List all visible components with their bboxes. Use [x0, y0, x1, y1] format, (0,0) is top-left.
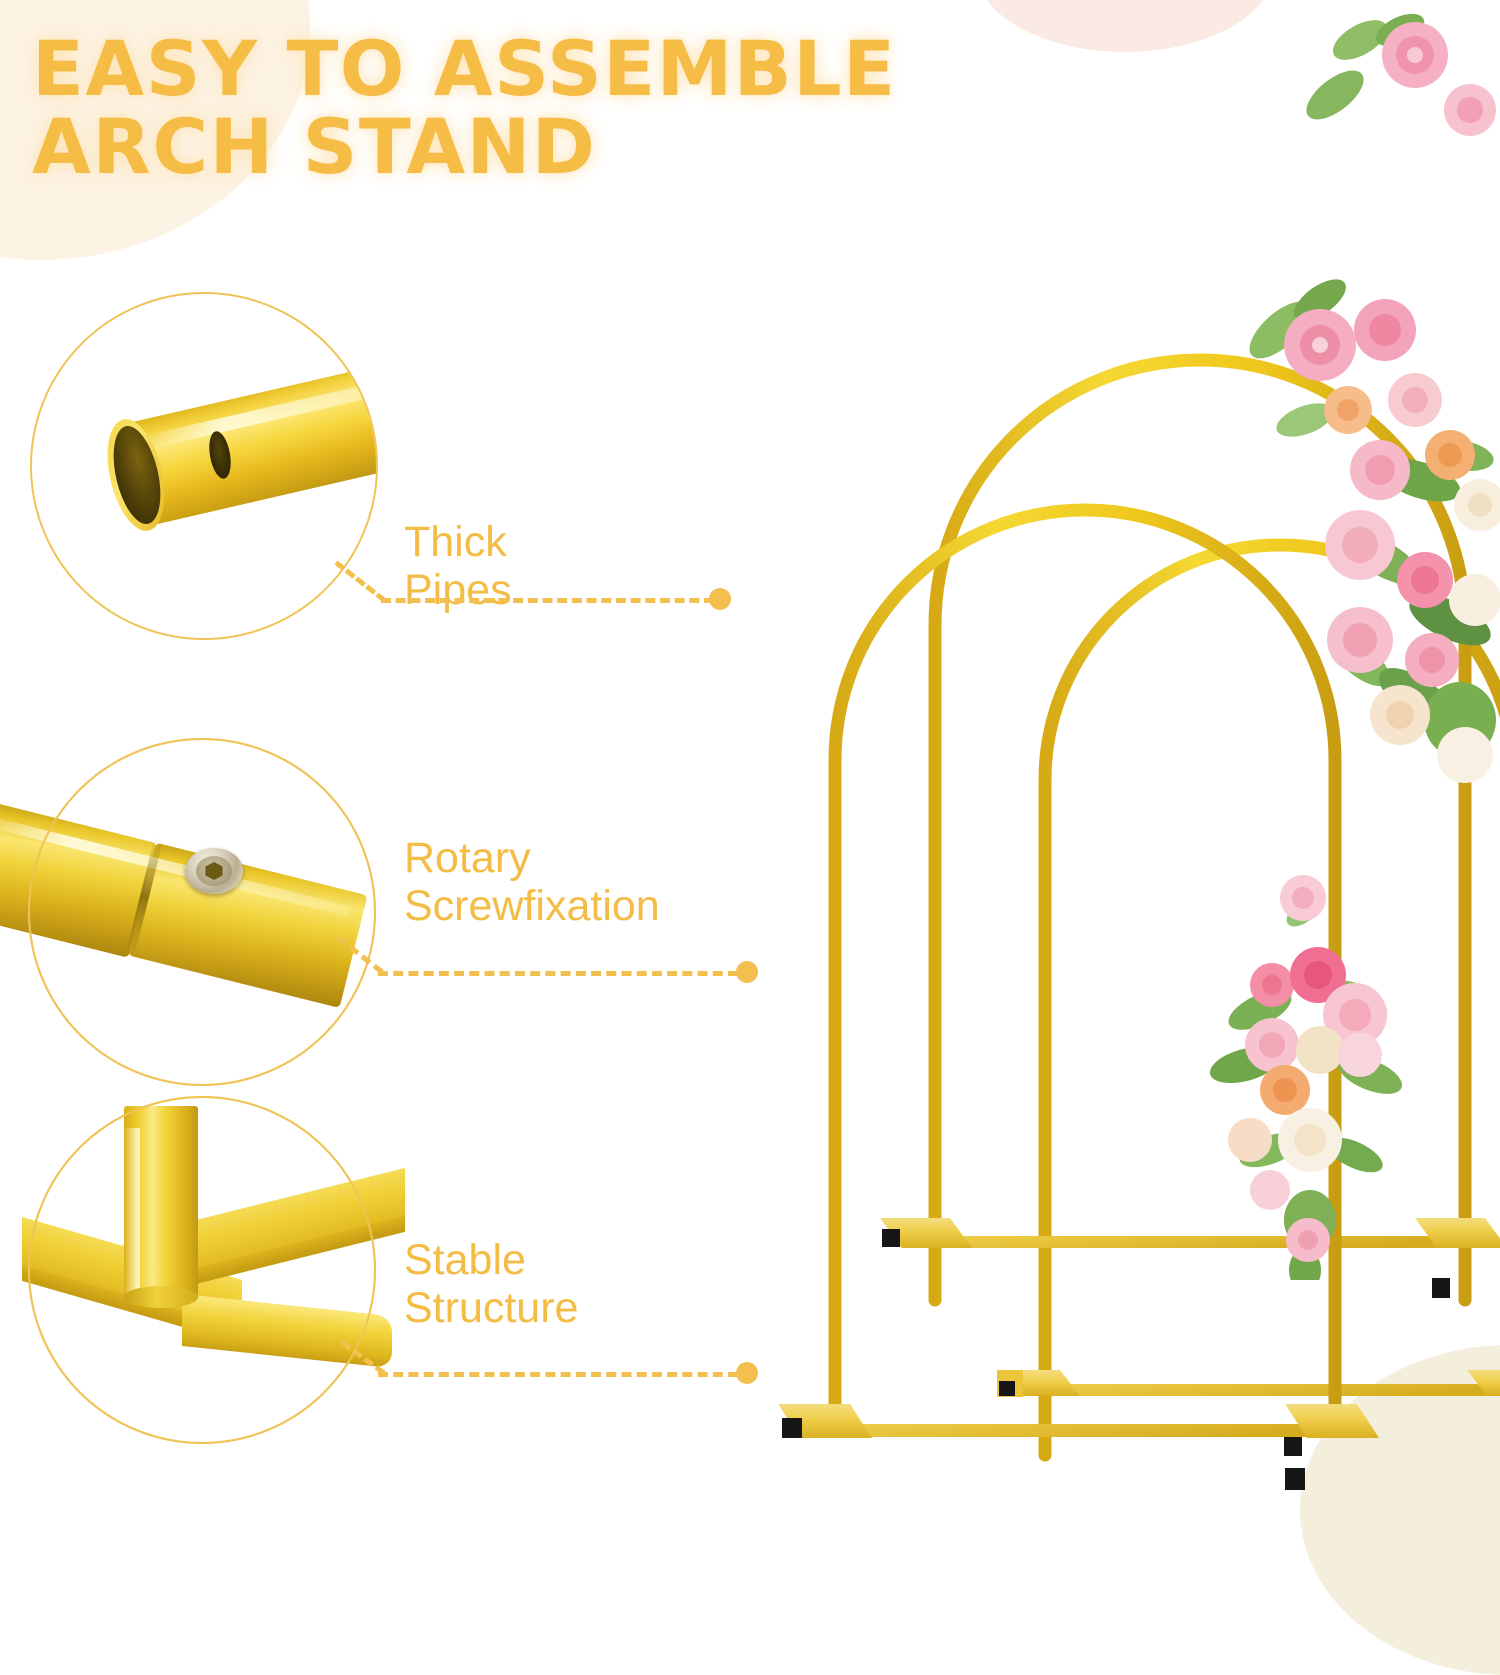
thick-pipes-detail-circle — [30, 292, 378, 640]
arch-small-foot-right-cap — [1285, 1468, 1305, 1490]
arch-large-frame — [1045, 545, 1500, 1455]
page-title: EASY TO ASSEMBLE ARCH STAND — [32, 30, 962, 187]
arch-medium-frame — [935, 360, 1465, 1300]
arch-large-base-rail — [1045, 1384, 1500, 1396]
screw-joint-photo — [0, 740, 420, 1088]
arch-small-base-rail — [835, 1424, 1335, 1437]
stable-structure-label: Stable Structure — [404, 1236, 578, 1332]
arch-small-foot-left-cap — [782, 1418, 802, 1438]
arch-medium — [880, 360, 1500, 1300]
stable-structure-connector-dot — [736, 1362, 758, 1384]
thick-pipes-connector-line — [381, 598, 714, 603]
rotary-screwfixation-connector-line — [378, 971, 738, 976]
base-pole-highlight — [124, 1128, 140, 1296]
arch-large — [997, 545, 1500, 1456]
base-pole-bottom-cap — [124, 1286, 198, 1308]
page-title-line-2: ARCH STAND — [32, 108, 962, 186]
rotary-screwfixation-detail-circle — [28, 738, 376, 1086]
rotary-screwfixation-connector-dot — [736, 961, 758, 983]
arch-medium-foot-right-cap — [1432, 1278, 1450, 1298]
product-arch-stands — [760, 0, 1500, 1500]
rotary-screwfixation-label: Rotary Screwfixation — [404, 834, 660, 930]
arch-large-foot-left-cap — [999, 1381, 1015, 1396]
stable-structure-connector-line — [378, 1372, 738, 1377]
stable-structure-detail-circle — [28, 1096, 376, 1444]
arch-stands-illustration — [760, 0, 1500, 1500]
thick-pipes-connector-dot — [709, 588, 731, 610]
arch-medium-foot-left-cap — [882, 1229, 900, 1247]
page-title-line-1: EASY TO ASSEMBLE — [32, 30, 962, 108]
base-joint-photo — [2, 1098, 412, 1458]
gold-pipe-photo — [32, 294, 378, 640]
arch-medium-base-rail — [935, 1236, 1465, 1248]
